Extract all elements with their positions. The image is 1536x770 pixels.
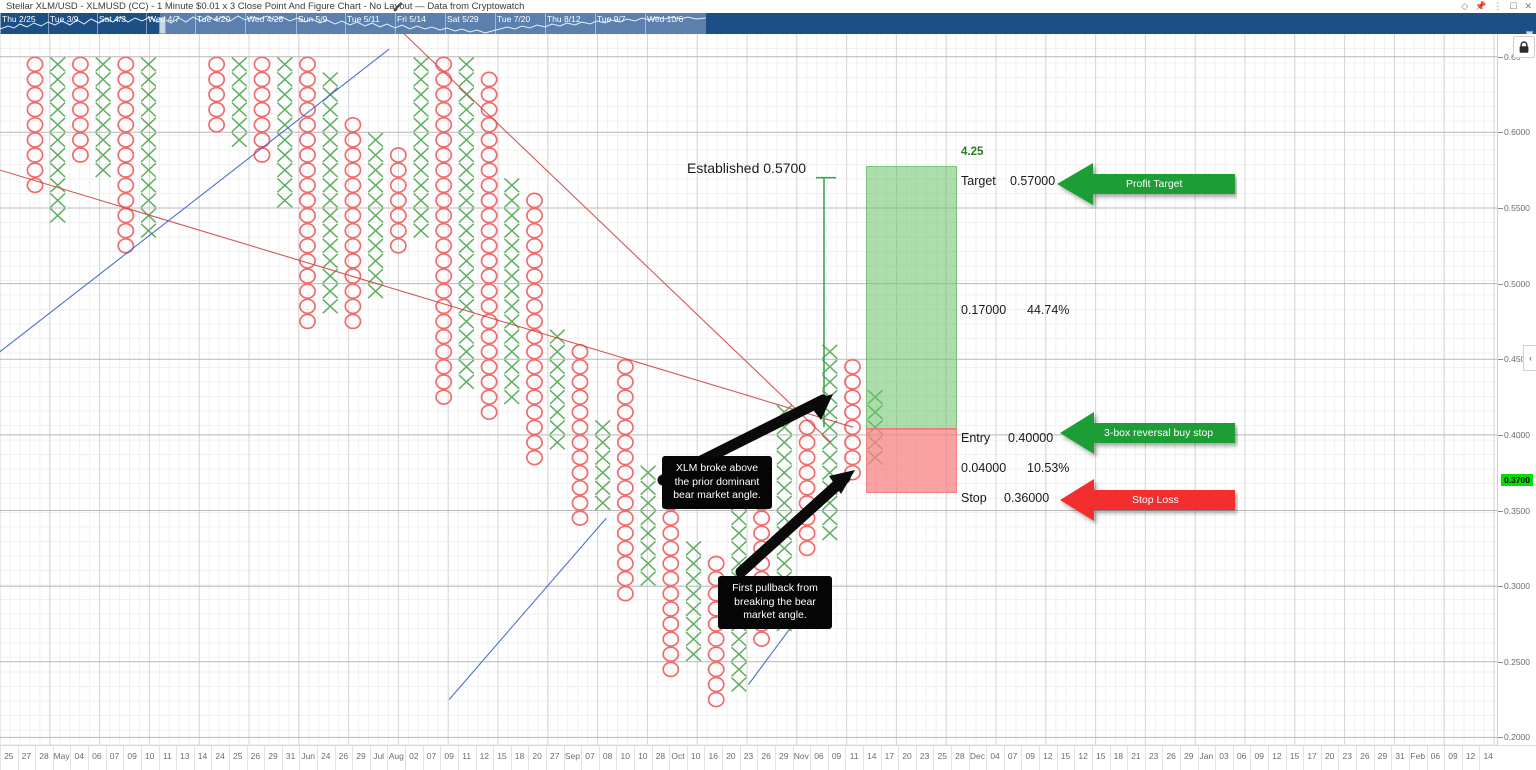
scrubber-tick: [0, 13, 1, 34]
scrubber-tick: [48, 13, 49, 34]
date-tick-divider: [1145, 746, 1146, 770]
date-tick-divider: [1057, 746, 1058, 770]
date-tick-divider: [1286, 746, 1287, 770]
date-tick-divider: [898, 746, 899, 770]
date-tick-label: 26: [757, 750, 775, 762]
date-tick-label: 12: [1074, 750, 1092, 762]
date-tick-divider: [1444, 746, 1445, 770]
date-tick-label: 25: [0, 750, 18, 762]
date-tick-label: 15: [1286, 750, 1304, 762]
date-tick-label: 24: [211, 750, 229, 762]
date-tick-divider: [740, 746, 741, 770]
scrubber-label: Wed 10/6: [645, 14, 683, 24]
date-tick-label: 23: [1145, 750, 1163, 762]
date-tick-label: 26: [335, 750, 353, 762]
date-tick-divider: [1074, 746, 1075, 770]
date-tick-label: 09: [828, 750, 846, 762]
scrubber-tick: [195, 13, 196, 34]
price-tick-label: 0.5000: [1504, 279, 1530, 289]
pin-icon[interactable]: 📌: [1475, 0, 1486, 13]
scrubber-label: Wed 4/7: [146, 14, 180, 24]
date-tick-label: 06: [810, 750, 828, 762]
date-tick-label: 14: [1479, 750, 1497, 762]
date-tick-divider: [986, 746, 987, 770]
date-tick-label: 25: [933, 750, 951, 762]
date-tick-divider: [264, 746, 265, 770]
date-tick-divider: [35, 746, 36, 770]
scrubber-tick: [97, 13, 98, 34]
date-tick-divider: [1268, 746, 1269, 770]
date-tick-divider: [299, 746, 300, 770]
date-tick-label: 09: [1250, 750, 1268, 762]
price-tick-label: 0.2500: [1504, 657, 1530, 667]
date-tick-divider: [493, 746, 494, 770]
date-tick-label: 12: [1039, 750, 1057, 762]
date-tick-label: 11: [159, 750, 177, 762]
date-tick-label: Jul: [370, 750, 388, 762]
date-tick-divider: [0, 746, 1, 770]
date-tick-divider: [528, 746, 529, 770]
date-tick-label: 27: [546, 750, 564, 762]
date-tick-divider: [1427, 746, 1428, 770]
date-tick-label: 03: [1215, 750, 1233, 762]
date-tick-label: 16: [704, 750, 722, 762]
date-tick-label: 20: [1321, 750, 1339, 762]
price-axis[interactable]: 0.650.60000.55000.50000.45000.40000.3500…: [1497, 34, 1536, 745]
annotation-note-1: XLM broke above the prior dominant bear …: [662, 456, 772, 509]
date-tick-divider: [53, 746, 54, 770]
date-tick-divider: [247, 746, 248, 770]
date-tick-divider: [511, 746, 512, 770]
current-price-badge: 0.3700: [1501, 474, 1533, 486]
date-tick-divider: [70, 746, 71, 770]
scrubber-tick: [345, 13, 346, 34]
date-tick-label: 25: [229, 750, 247, 762]
date-tick-divider: [1110, 746, 1111, 770]
date-tick-divider: [1409, 746, 1410, 770]
date-tick-label: 07: [1004, 750, 1022, 762]
date-tick-divider: [1391, 746, 1392, 770]
date-tick-label: May: [53, 750, 71, 762]
date-tick-label: Sep: [564, 750, 582, 762]
date-tick-label: 09: [1444, 750, 1462, 762]
date-tick-divider: [229, 746, 230, 770]
stop-percent: 10.53%: [1027, 461, 1069, 476]
date-tick-divider: [564, 746, 565, 770]
date-tick-label: 29: [352, 750, 370, 762]
date-tick-divider: [440, 746, 441, 770]
scrubber-tick: [595, 13, 596, 34]
date-tick-divider: [810, 746, 811, 770]
date-tick-divider: [916, 746, 917, 770]
scrubber-tick: [395, 13, 396, 34]
target-delta: 0.17000: [961, 303, 1006, 318]
scrubber-label: Sat 5/29: [445, 14, 479, 24]
scrubber-tick: [245, 13, 246, 34]
info-icon[interactable]: ⋮: [1493, 0, 1502, 13]
date-axis[interactable]: 252728May04060709101113142425262931Jun24…: [0, 745, 1536, 770]
date-tick-label: 23: [740, 750, 758, 762]
date-tick-label: 28: [951, 750, 969, 762]
stop-label: Stop: [961, 491, 987, 506]
date-tick-divider: [282, 746, 283, 770]
date-tick-divider: [1004, 746, 1005, 770]
price-tick-mark: [1498, 435, 1503, 436]
window-controls[interactable]: ◇ 📌 ⋮ ☐ ✕: [1461, 0, 1532, 13]
date-tick-divider: [1162, 746, 1163, 770]
time-range-scrubber[interactable]: Thu 2/25Tue 3/9Sat 4/3Wed 4/7Tue 4/20Wed…: [0, 13, 706, 34]
date-tick-label: Oct: [669, 750, 687, 762]
date-tick-label: 18: [511, 750, 529, 762]
date-tick-label: 31: [282, 750, 300, 762]
price-tick-label: 0.6000: [1504, 127, 1530, 137]
date-tick-divider: [1321, 746, 1322, 770]
stop-delta: 0.04000: [961, 461, 1006, 476]
annotation-note-2: First pullback from breaking the bear ma…: [718, 576, 832, 629]
date-tick-divider: [1356, 746, 1357, 770]
date-tick-divider: [634, 746, 635, 770]
date-tick-divider: [722, 746, 723, 770]
date-tick-divider: [123, 746, 124, 770]
date-tick-divider: [1303, 746, 1304, 770]
price-tick-mark: [1498, 586, 1503, 587]
date-tick-divider: [793, 746, 794, 770]
date-tick-divider: [458, 746, 459, 770]
date-tick-label: 14: [863, 750, 881, 762]
date-tick-divider: [669, 746, 670, 770]
target-label: Target: [961, 174, 996, 189]
scrubber-label: Thu 8/12: [545, 14, 581, 24]
scrubber-label: Tue 9/7: [595, 14, 626, 24]
date-tick-label: Dec: [969, 750, 987, 762]
stop-loss-label: Stop Loss: [1132, 494, 1179, 506]
date-tick-label: 07: [423, 750, 441, 762]
date-tick-divider: [211, 746, 212, 770]
date-tick-divider: [1127, 746, 1128, 770]
restore-icon[interactable]: ☐: [1509, 0, 1517, 13]
target-price: 0.57000: [1010, 174, 1055, 189]
price-tick-label: 0.3500: [1504, 506, 1530, 516]
date-tick-divider: [881, 746, 882, 770]
scrubber-tick: [445, 13, 446, 34]
stop-loss-callout[interactable]: Stop Loss: [1060, 477, 1238, 530]
date-tick-divider: [757, 746, 758, 770]
price-tick-mark: [1498, 57, 1503, 58]
reversal-buy-stop-label: 3-box reversal buy stop: [1104, 427, 1213, 439]
date-tick-divider: [176, 746, 177, 770]
date-tick-label: 26: [1162, 750, 1180, 762]
date-tick-divider: [141, 746, 142, 770]
date-tick-label: Aug: [387, 750, 405, 762]
date-tick-divider: [1338, 746, 1339, 770]
date-tick-divider: [159, 746, 160, 770]
date-tick-divider: [423, 746, 424, 770]
date-tick-label: 10: [687, 750, 705, 762]
price-tick-mark: [1498, 737, 1503, 738]
date-tick-label: 10: [634, 750, 652, 762]
price-tick-mark: [1498, 208, 1503, 209]
date-tick-divider: [933, 746, 934, 770]
date-tick-label: 12: [1268, 750, 1286, 762]
date-tick-label: 15: [493, 750, 511, 762]
date-tick-divider: [687, 746, 688, 770]
date-tick-label: 24: [317, 750, 335, 762]
date-tick-label: Feb: [1409, 750, 1427, 762]
date-tick-label: 17: [1303, 750, 1321, 762]
date-tick-divider: [546, 746, 547, 770]
date-tick-label: 13: [176, 750, 194, 762]
scrubber-tick: [645, 13, 646, 34]
scrubber-right-track[interactable]: [706, 13, 1536, 34]
scrubber-tick: [545, 13, 546, 34]
scrubber-label: Tue 3/9: [48, 14, 79, 24]
date-tick-divider: [1198, 746, 1199, 770]
scrubber-label: Fri 5/14: [395, 14, 426, 24]
date-tick-divider: [1479, 746, 1480, 770]
chevron-left-icon[interactable]: ‹: [1523, 345, 1536, 371]
date-tick-label: 06: [88, 750, 106, 762]
date-tick-label: 26: [247, 750, 265, 762]
chart-title: Stellar XLM/USD - XLMUSD (CC) - 1 Minute…: [6, 0, 524, 13]
date-tick-divider: [845, 746, 846, 770]
scrubber-label: Tue 4/20: [195, 14, 230, 24]
date-tick-divider: [370, 746, 371, 770]
scrubber-tick: [146, 13, 147, 34]
price-tick-label: 0.4000: [1504, 430, 1530, 440]
date-tick-divider: [1374, 746, 1375, 770]
profit-target-label: Profit Target: [1126, 178, 1182, 190]
date-tick-label: 06: [1233, 750, 1251, 762]
established-price-label: Established 0.5700: [687, 159, 806, 177]
scrubber-tick: [495, 13, 496, 34]
date-tick-divider: [352, 746, 353, 770]
date-tick-divider: [828, 746, 829, 770]
date-tick-label: Nov: [793, 750, 811, 762]
stop-price: 0.36000: [1004, 491, 1049, 506]
date-tick-divider: [88, 746, 89, 770]
date-tick-label: 21: [1127, 750, 1145, 762]
date-tick-label: 15: [1057, 750, 1075, 762]
date-tick-divider: [106, 746, 107, 770]
lock-icon[interactable]: [1513, 36, 1535, 58]
entry-label: Entry: [961, 431, 990, 446]
date-tick-label: 29: [1180, 750, 1198, 762]
date-tick-label: 09: [440, 750, 458, 762]
date-tick-divider: [704, 746, 705, 770]
date-tick-divider: [652, 746, 653, 770]
date-tick-label: 09: [1021, 750, 1039, 762]
profit-target-callout[interactable]: Profit Target: [1057, 161, 1237, 214]
date-tick-divider: [951, 746, 952, 770]
date-tick-divider: [194, 746, 195, 770]
date-tick-label: 26: [1356, 750, 1374, 762]
scrubber-label: Tue 7/20: [495, 14, 530, 24]
date-tick-divider: [1092, 746, 1093, 770]
date-tick-label: 31: [1391, 750, 1409, 762]
risk-zone: [866, 428, 957, 493]
price-tick-label: 0.5500: [1504, 203, 1530, 213]
date-tick-label: 28: [652, 750, 670, 762]
scrubber-label: Thu 2/25: [0, 14, 36, 24]
date-tick-label: 07: [106, 750, 124, 762]
date-tick-divider: [581, 746, 582, 770]
target-percent: 44.74%: [1027, 303, 1069, 318]
date-tick-divider: [1021, 746, 1022, 770]
price-tick-label: 0.3000: [1504, 581, 1530, 591]
date-tick-divider: [775, 746, 776, 770]
date-tick-label: 07: [581, 750, 599, 762]
date-tick-label: 28: [35, 750, 53, 762]
date-tick-label: Jun: [299, 750, 317, 762]
date-tick-label: 02: [405, 750, 423, 762]
date-tick-label: 23: [916, 750, 934, 762]
date-tick-label: 20: [898, 750, 916, 762]
price-tick-mark: [1498, 284, 1503, 285]
date-tick-divider: [969, 746, 970, 770]
date-tick-divider: [317, 746, 318, 770]
price-tick-mark: [1498, 662, 1503, 663]
date-tick-divider: [863, 746, 864, 770]
price-tick-mark: [1498, 359, 1503, 360]
reward-risk-ratio: 4.25: [961, 145, 983, 159]
scrubber-label: Sun 5/9: [296, 14, 327, 24]
diamond-icon[interactable]: ◇: [1461, 0, 1468, 13]
price-tick-mark: [1498, 511, 1503, 512]
date-tick-divider: [387, 746, 388, 770]
price-tick-label: 0.2000: [1504, 732, 1530, 742]
date-tick-label: 06: [1427, 750, 1445, 762]
date-tick-divider: [335, 746, 336, 770]
scrubber-label: Wed 4/28: [245, 14, 283, 24]
close-icon[interactable]: ✕: [1524, 0, 1532, 13]
entry-price: 0.40000: [1008, 431, 1053, 446]
date-tick-divider: [616, 746, 617, 770]
scrubber-tick: [296, 13, 297, 34]
date-tick-divider: [1462, 746, 1463, 770]
date-tick-label: 12: [476, 750, 494, 762]
scrubber-label: Tue 5/11: [345, 14, 380, 24]
date-tick-divider: [1215, 746, 1216, 770]
date-tick-label: 04: [70, 750, 88, 762]
date-tick-divider: [599, 746, 600, 770]
date-tick-label: 14: [194, 750, 212, 762]
pencil-icon[interactable]: [392, 1, 404, 12]
title-bar: Stellar XLM/USD - XLMUSD (CC) - 1 Minute…: [0, 0, 1536, 13]
date-tick-divider: [1039, 746, 1040, 770]
date-tick-label: 10: [141, 750, 159, 762]
date-tick-label: 10: [616, 750, 634, 762]
date-tick-label: 17: [881, 750, 899, 762]
date-tick-label: 20: [722, 750, 740, 762]
date-tick-label: 29: [264, 750, 282, 762]
price-tick-mark: [1498, 132, 1503, 133]
date-tick-label: 11: [845, 750, 863, 762]
date-tick-label: 11: [458, 750, 476, 762]
date-tick-label: 15: [1092, 750, 1110, 762]
date-tick-divider: [476, 746, 477, 770]
date-tick-label: 27: [18, 750, 36, 762]
reversal-buy-stop-callout[interactable]: 3-box reversal buy stop: [1060, 410, 1238, 463]
date-tick-label: 04: [986, 750, 1004, 762]
date-tick-label: 23: [1338, 750, 1356, 762]
date-tick-divider: [1250, 746, 1251, 770]
date-tick-divider: [1233, 746, 1234, 770]
date-tick-label: 12: [1462, 750, 1480, 762]
date-tick-label: 09: [123, 750, 141, 762]
date-tick-label: 08: [599, 750, 617, 762]
date-tick-divider: [405, 746, 406, 770]
date-tick-label: 29: [775, 750, 793, 762]
date-tick-label: 18: [1110, 750, 1128, 762]
date-tick-label: 29: [1374, 750, 1392, 762]
date-tick-divider: [1180, 746, 1181, 770]
date-tick-label: 20: [528, 750, 546, 762]
date-tick-divider: [18, 746, 19, 770]
profit-zone: [866, 166, 957, 430]
date-tick-label: Jan: [1198, 750, 1216, 762]
scrubber-label: Sat 4/3: [97, 14, 126, 24]
